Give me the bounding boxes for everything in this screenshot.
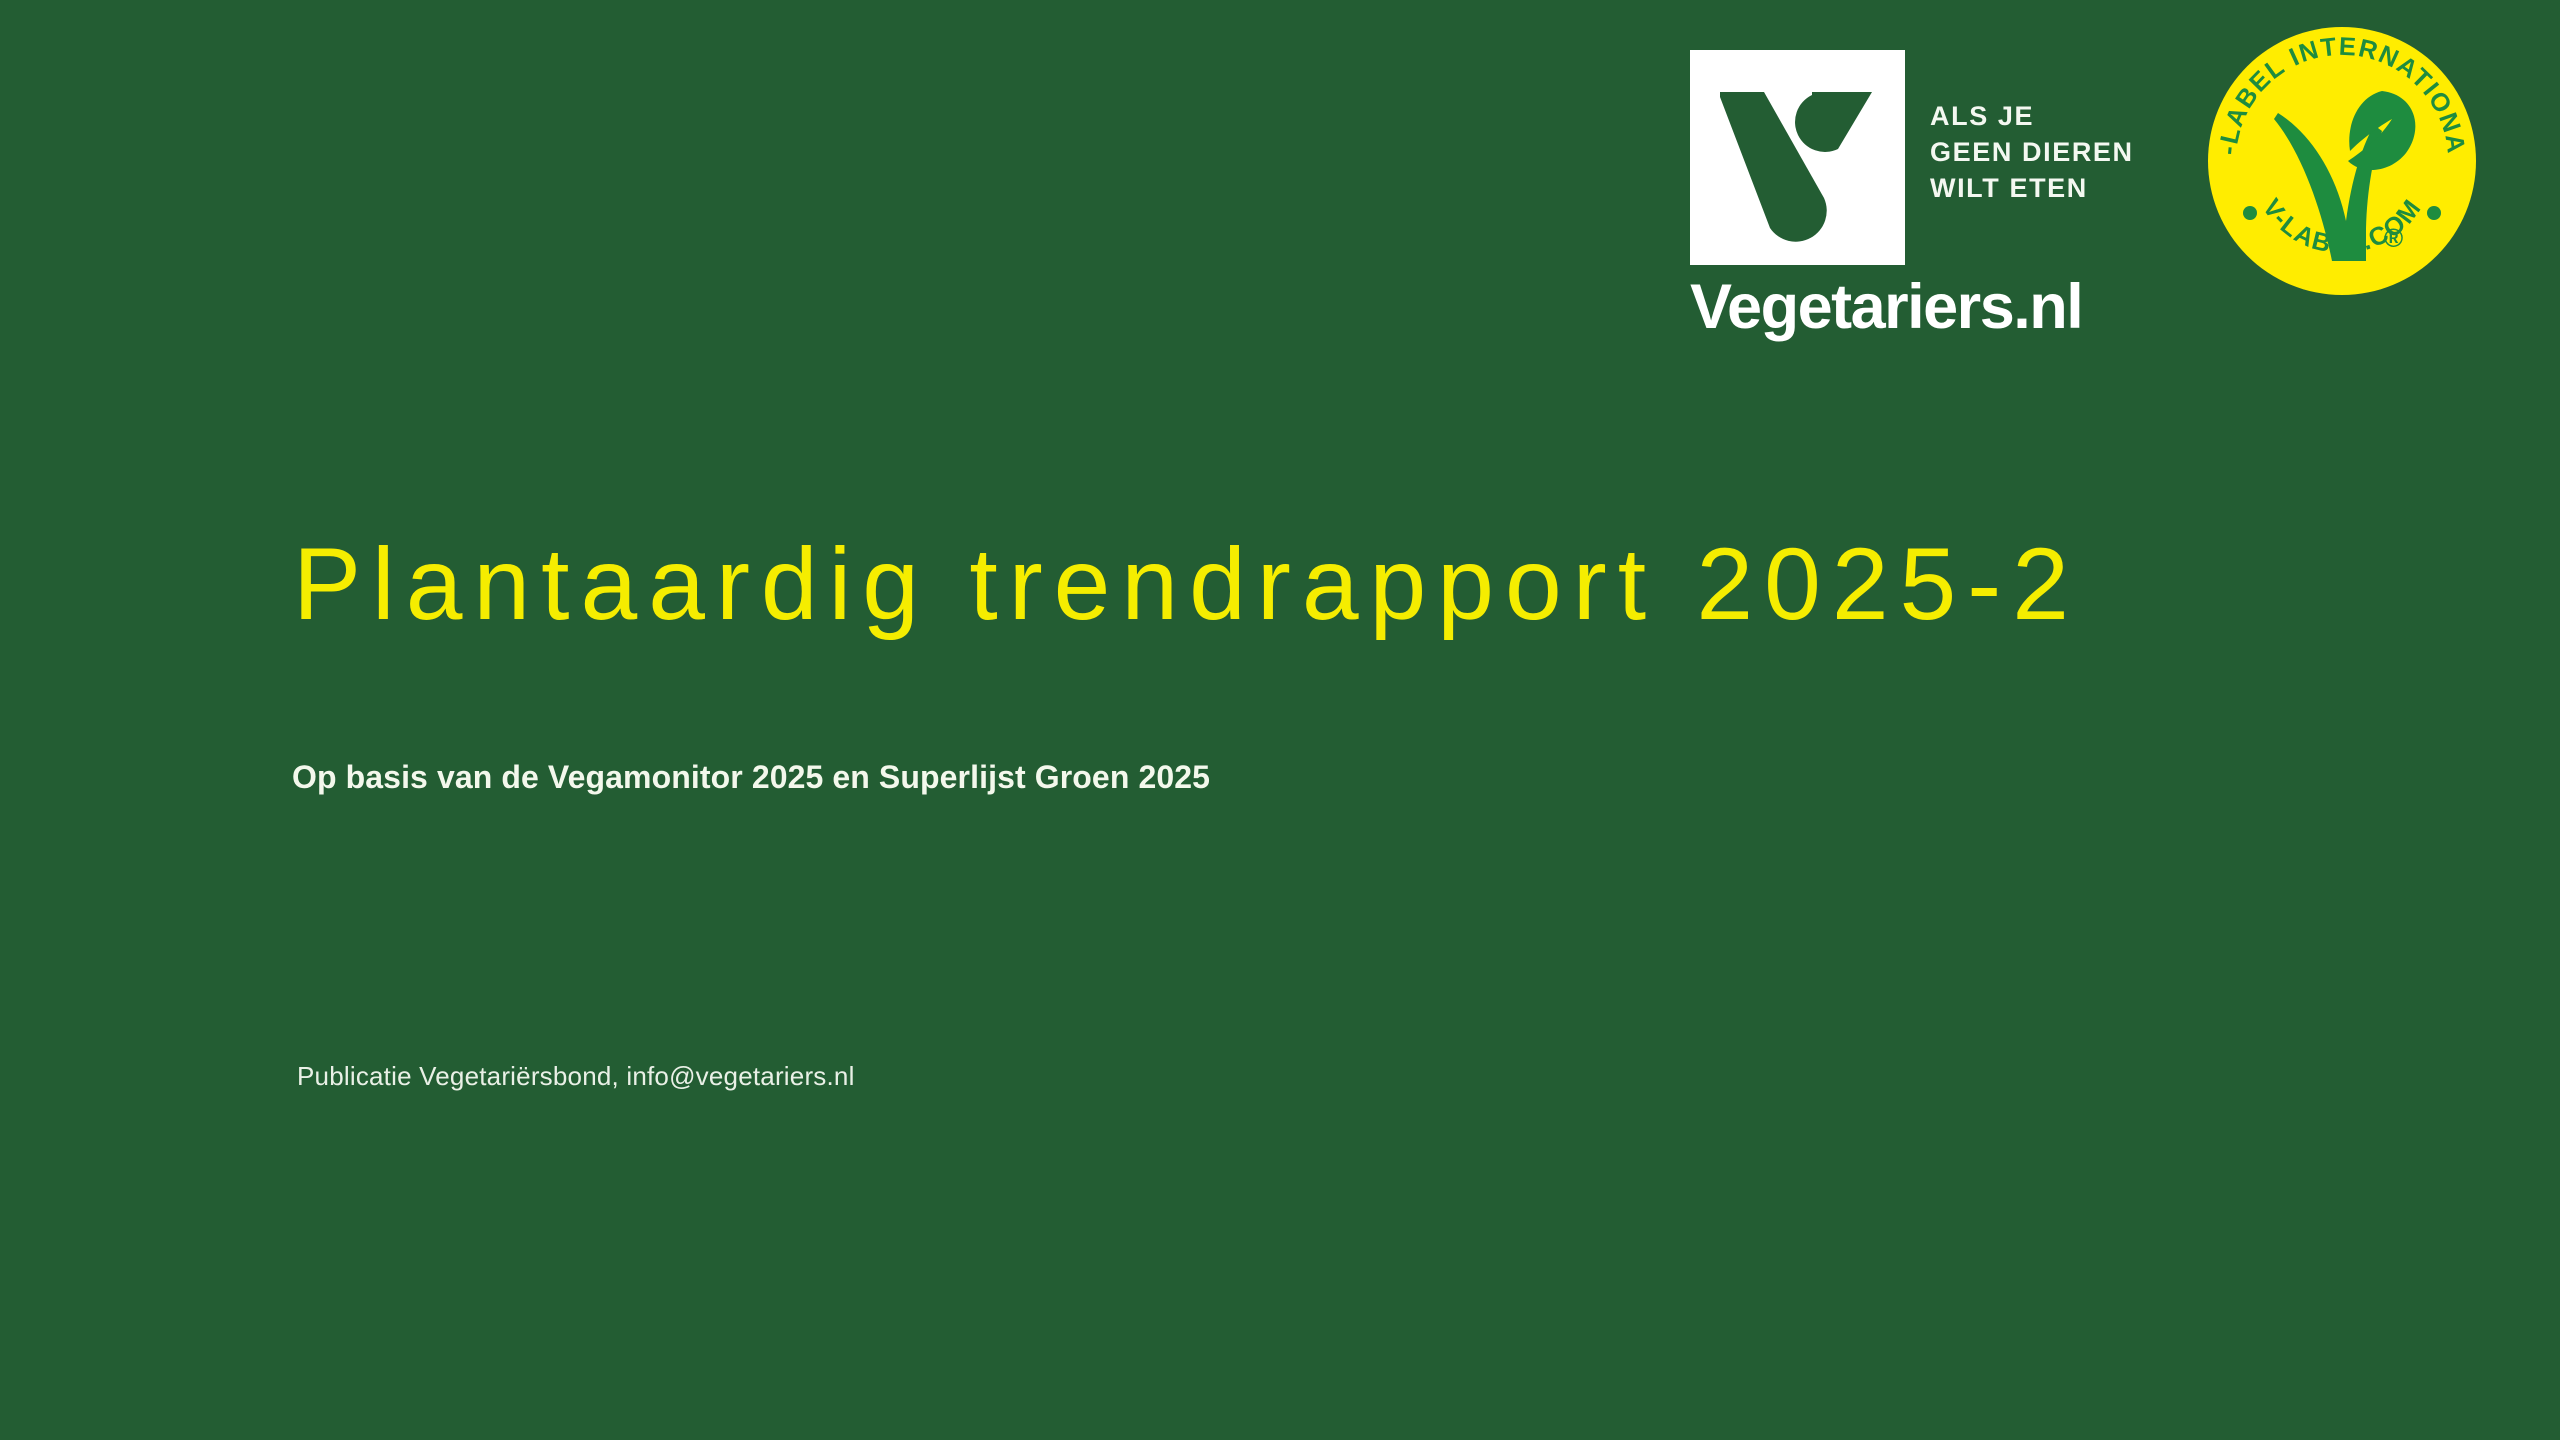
- publication-credit: Publicatie Vegetariërsbond, info@vegetar…: [297, 1059, 855, 1093]
- vegetariers-wordmark: Vegetariers.nl: [1690, 272, 2082, 342]
- tagline-line-1: ALS JE: [1930, 98, 2134, 134]
- svg-text:®: ®: [2384, 223, 2403, 253]
- page-title: Plantaardig trendrapport 2025-2: [293, 525, 2080, 643]
- vegetariers-tagline: ALS JE GEEN DIEREN WILT ETEN: [1930, 98, 2134, 206]
- tagline-line-3: WILT ETEN: [1930, 170, 2134, 206]
- logo-cluster: ALS JE GEEN DIEREN WILT ETEN Vegetariers…: [1690, 50, 2480, 350]
- page-subtitle: Op basis van de Vegamonitor 2025 en Supe…: [292, 756, 1210, 798]
- tagline-line-2: GEEN DIEREN: [1930, 134, 2134, 170]
- v-label-international-badge-icon[interactable]: V-LABEL INTERNATIONAL V-LABEL.COM: [2206, 25, 2478, 297]
- v-leaf-mark-icon: [1690, 50, 1905, 265]
- title-slide: ALS JE GEEN DIEREN WILT ETEN Vegetariers…: [0, 0, 2560, 1440]
- vegetariers-logo-lockup[interactable]: ALS JE GEEN DIEREN WILT ETEN Vegetariers…: [1690, 50, 2150, 350]
